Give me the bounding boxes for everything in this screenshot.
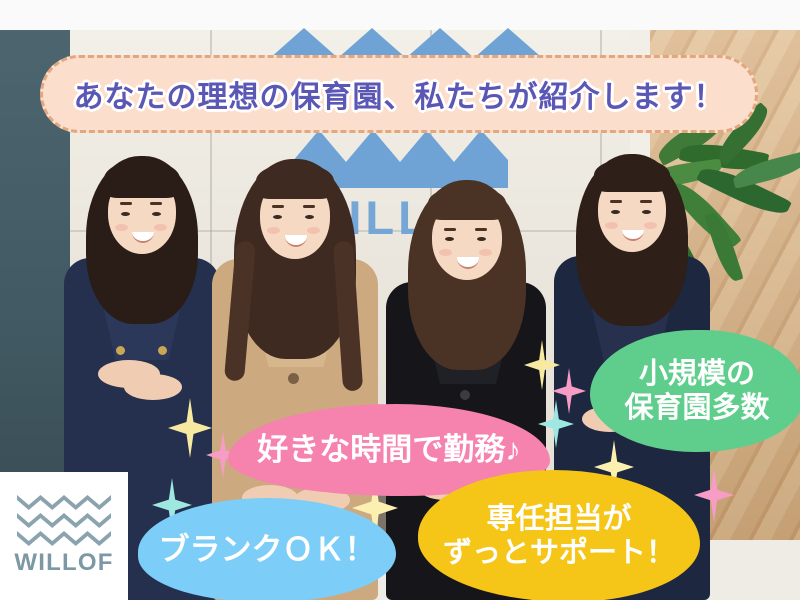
sparkle-icon — [694, 468, 734, 522]
zigzag-icon — [17, 495, 111, 510]
sparkle-icon — [538, 400, 574, 448]
willof-logo-card: WILLOF — [0, 472, 128, 600]
willof-wordmark: WILLOF — [14, 549, 113, 577]
bubble-blue-text: ブランクＯＫ！ — [159, 532, 376, 569]
headline-text: あなたの理想の保育園、私たちが紹介します！ — [74, 72, 725, 116]
bubble-green-line1: 小規模の — [639, 358, 755, 390]
bubble-yellow-line2: ずっとサポート！ — [443, 537, 675, 569]
bubble-small-nurseries: 小規模の 保育園多数 — [590, 330, 800, 452]
bubble-pink-text: 好きな時間で勤務♪ — [257, 432, 521, 469]
bubble-blank-ok: ブランクＯＫ！ — [138, 498, 396, 600]
bubble-green-line2: 保育園多数 — [624, 392, 769, 424]
advertisement-banner: WILLOF — [0, 0, 800, 600]
bubble-yellow-line1: 専任担当が — [486, 503, 631, 535]
zigzag-icon — [17, 513, 111, 528]
zigzag-icon — [17, 531, 111, 546]
headline-banner: あなたの理想の保育園、私たちが紹介します！ — [40, 55, 758, 133]
